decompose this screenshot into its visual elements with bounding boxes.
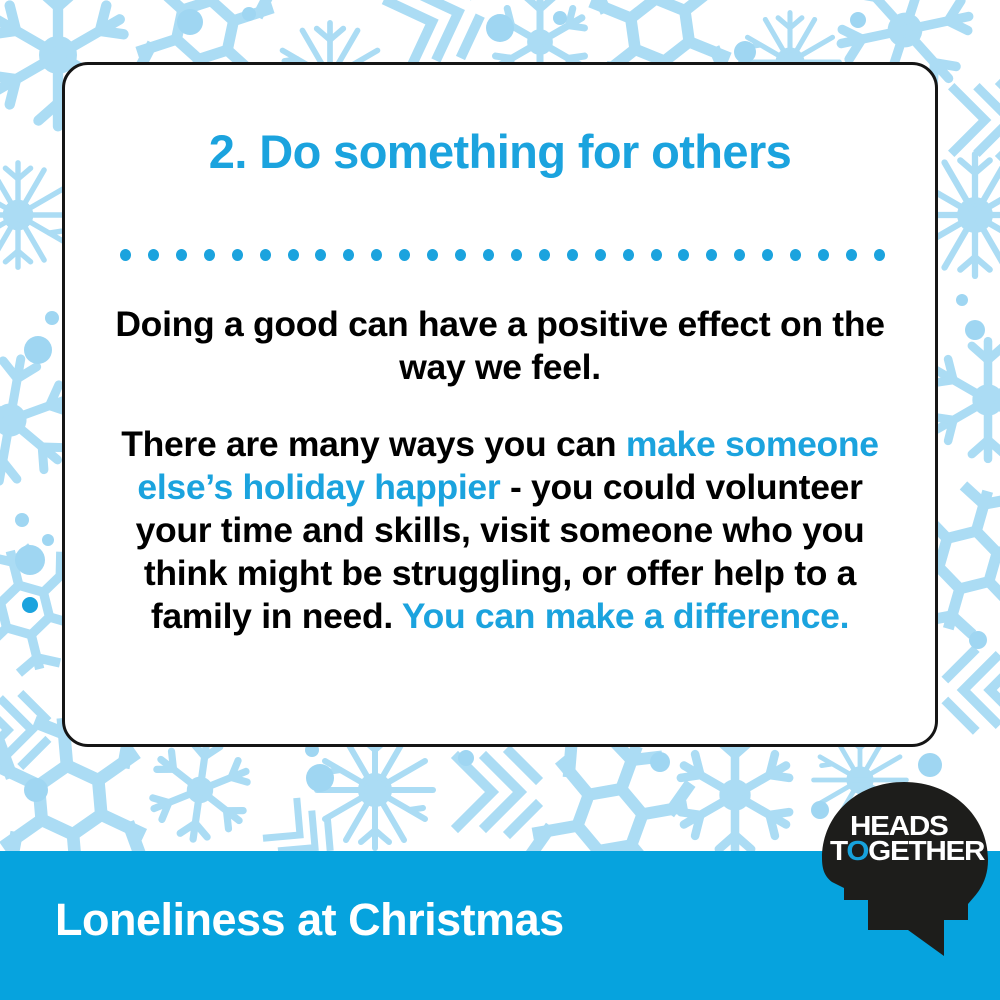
divider-dot — [595, 249, 606, 261]
paragraph-1-segment-1: Doing a good can have a positive effect … — [115, 304, 884, 387]
divider-dot — [874, 249, 885, 261]
divider-dot — [706, 249, 717, 261]
paragraph-2: There are many ways you can make someone… — [113, 423, 887, 638]
divider-dot — [567, 249, 578, 261]
paragraph-2-highlight-2: You can make a difference. — [402, 596, 849, 636]
divider-dot — [818, 249, 829, 261]
divider-dot — [232, 249, 243, 261]
divider-dot — [260, 249, 271, 261]
divider-dot — [790, 249, 801, 261]
divider-dot — [511, 249, 522, 261]
divider-dot — [343, 249, 354, 261]
divider-dot — [176, 249, 187, 261]
divider-dot — [427, 249, 438, 261]
divider-dot — [288, 249, 299, 261]
head-silhouette-icon — [820, 780, 996, 960]
divider-dot — [120, 249, 131, 261]
paragraph-2-segment-1: There are many ways you can — [121, 424, 626, 464]
divider-dot — [623, 249, 634, 261]
divider-dot — [455, 249, 466, 261]
footer-title: Loneliness at Christmas — [55, 894, 564, 946]
divider-dot — [678, 249, 689, 261]
divider-dot — [734, 249, 745, 261]
paragraph-1: Doing a good can have a positive effect … — [113, 303, 887, 389]
divider-dot — [315, 249, 326, 261]
divider-dot — [483, 249, 494, 261]
divider-dot — [399, 249, 410, 261]
card-body-text: Doing a good can have a positive effect … — [113, 303, 887, 638]
divider-dot — [846, 249, 857, 261]
divider-dot — [148, 249, 159, 261]
divider-dot — [371, 249, 382, 261]
poster-canvas: 2. Do something for others — [0, 0, 1000, 1000]
divider-dot — [762, 249, 773, 261]
dotted-divider-icon — [120, 248, 885, 262]
divider-dot — [651, 249, 662, 261]
content-card: 2. Do something for others — [62, 62, 938, 747]
divider-dot — [539, 249, 550, 261]
heads-together-logo: HEADS TOGETHER — [820, 780, 996, 960]
page-title: 2. Do something for others — [65, 127, 935, 176]
divider-dot — [204, 249, 215, 261]
